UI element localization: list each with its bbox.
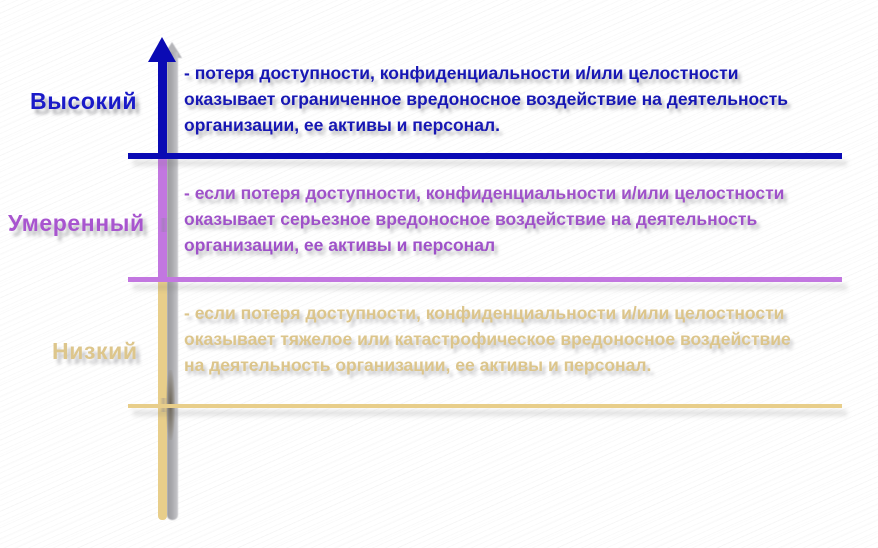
- level-label-low: Низкий: [52, 338, 138, 365]
- description-line: - если потеря доступности, конфиденциаль…: [184, 180, 868, 206]
- description-line: оказывает тяжелое или катастрофическое в…: [184, 326, 868, 352]
- level-label-moderate: Умеренный: [8, 210, 145, 237]
- divider-high: [128, 153, 842, 159]
- description-line: организации, ее активы и персонал: [184, 232, 868, 258]
- divider-shadow-low: [133, 410, 847, 416]
- level-description-low: - если потеря доступности, конфиденциаль…: [184, 300, 868, 378]
- description-line: - потеря доступности, конфиденциальности…: [184, 60, 868, 86]
- description-line: организации, ее активы и персонал.: [184, 112, 868, 138]
- level-label-high: Высокий: [30, 88, 137, 115]
- divider-shadow-moderate: [133, 284, 847, 290]
- level-description-moderate: - если потеря доступности, конфиденциаль…: [184, 180, 868, 258]
- description-line: оказывает серьезное вредоносное воздейст…: [184, 206, 868, 232]
- divider-shadow-high: [133, 160, 847, 166]
- slide-canvas: Высокий Умеренный Низкий - потеря доступ…: [0, 0, 878, 548]
- axis-tick-moderate: [160, 218, 168, 232]
- description-line: - если потеря доступности, конфиденциаль…: [184, 300, 868, 326]
- divider-low: [128, 404, 842, 408]
- level-description-high: - потеря доступности, конфиденциальности…: [184, 60, 868, 138]
- description-line: оказывает ограниченное вредоносное возде…: [184, 86, 868, 112]
- axis-segment-high: [158, 54, 167, 160]
- divider-moderate: [128, 277, 842, 282]
- description-line: на деятельность организации, ее активы и…: [184, 352, 868, 378]
